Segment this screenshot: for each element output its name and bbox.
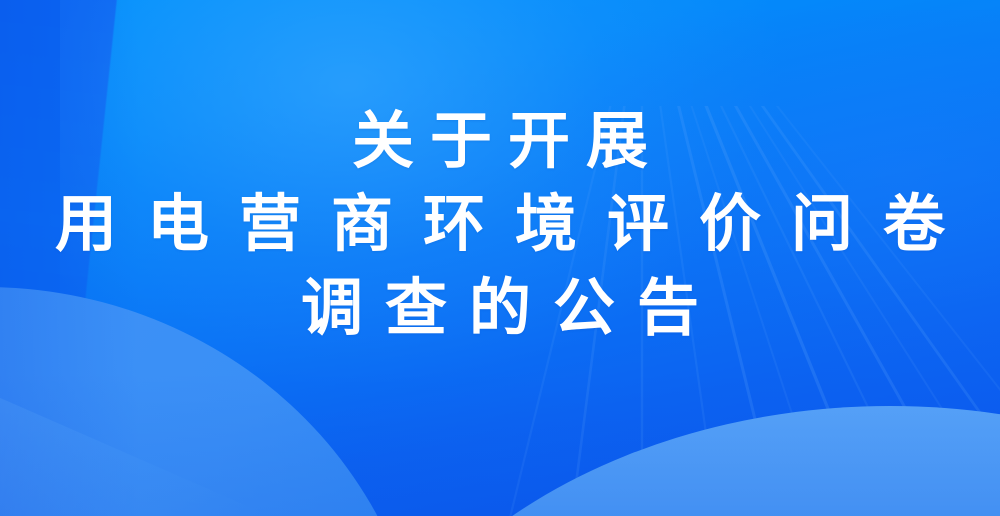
announcement-banner: 关于开展 用电营商环境评价问卷 调查的公告 [0, 0, 1000, 516]
banner-headline: 关于开展 用电营商环境评价问卷 调查的公告 [0, 0, 1000, 516]
title-line-2: 用电营商环境评价问卷 [25, 183, 975, 266]
title-line-3: 调查的公告 [279, 267, 721, 350]
title-line-1: 关于开展 [336, 100, 664, 183]
